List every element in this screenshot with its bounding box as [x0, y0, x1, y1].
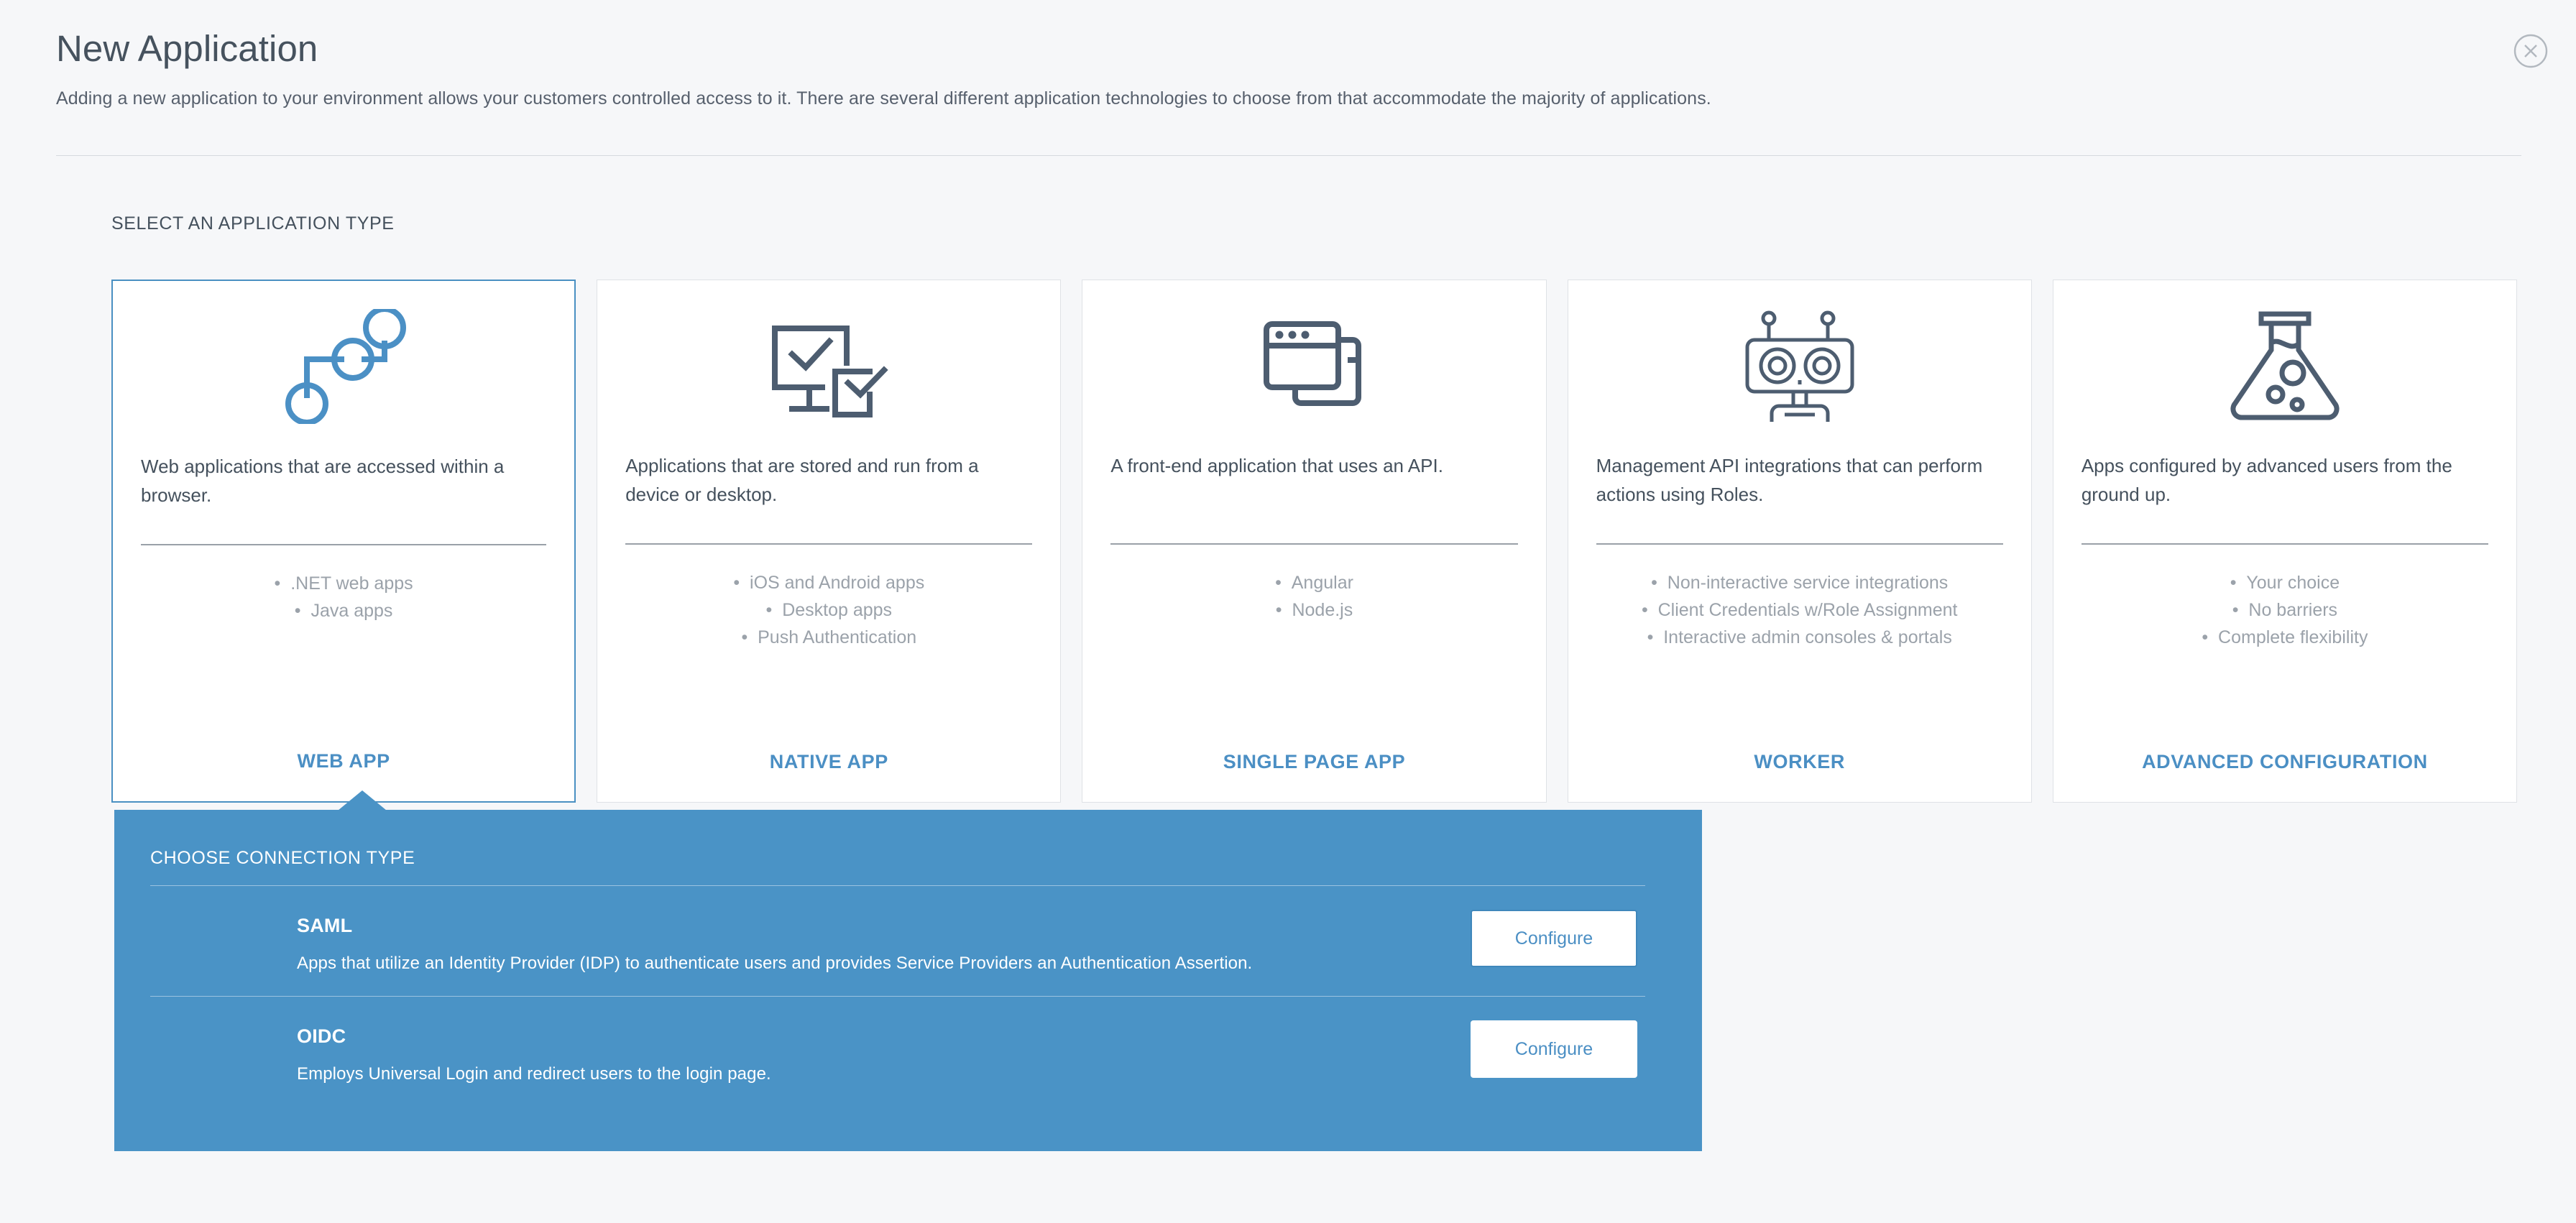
section-label: SELECT AN APPLICATION TYPE — [111, 213, 395, 234]
configure-button-saml[interactable]: Configure — [1471, 910, 1637, 967]
configure-button-oidc[interactable]: Configure — [1471, 1020, 1637, 1078]
app-type-description: Management API integrations that can per… — [1596, 451, 2003, 543]
list-item: Complete flexibility — [2202, 624, 2368, 651]
page-title: New Application — [56, 27, 2521, 70]
flask-icon — [2053, 280, 2516, 451]
list-item: iOS and Android apps — [733, 569, 924, 596]
network-nodes-icon — [113, 281, 574, 452]
app-type-cta-single-page-app[interactable]: SINGLE PAGE APP — [1082, 751, 1545, 802]
app-type-cta-native-app[interactable]: NATIVE APP — [597, 751, 1060, 802]
app-type-bullets: .NET web apps Java apps — [113, 545, 574, 750]
list-item: Push Authentication — [741, 624, 916, 651]
new-application-dialog: New Application Adding a new application… — [0, 0, 2576, 1223]
list-item: .NET web apps — [275, 570, 413, 597]
connection-description: Apps that utilize an Identity Provider (… — [297, 954, 1252, 974]
connection-panel-title: CHOOSE CONNECTION TYPE — [150, 848, 415, 869]
app-type-description: Apps configured by advanced users from t… — [2081, 451, 2488, 543]
close-circle-icon[interactable] — [2511, 32, 2550, 70]
dialog-header: New Application Adding a new application… — [56, 27, 2521, 111]
app-type-card-single-page-app[interactable]: A front-end application that uses an API… — [1082, 280, 1546, 803]
list-item: Desktop apps — [766, 596, 893, 624]
app-type-card-web-app[interactable]: Web applications that are accessed withi… — [111, 280, 576, 803]
connection-name: SAML — [297, 915, 352, 937]
app-type-description: Web applications that are accessed withi… — [141, 452, 546, 544]
app-type-bullets: Your choice No barriers Complete flexibi… — [2053, 545, 2516, 751]
application-type-list: Web applications that are accessed withi… — [111, 280, 2517, 803]
desktop-and-mobile-check-icon — [597, 280, 1060, 451]
list-item: Node.js — [1276, 596, 1353, 624]
page-subtitle: Adding a new application to your environ… — [56, 86, 2521, 111]
connection-row-oidc: OIDC Employs Universal Login and redirec… — [114, 997, 1702, 1107]
list-item: Angular — [1275, 569, 1353, 596]
app-type-bullets: Angular Node.js — [1082, 545, 1545, 751]
list-item: Your choice — [2230, 569, 2340, 596]
connection-description: Employs Universal Login and redirect use… — [297, 1064, 771, 1084]
app-type-card-worker[interactable]: Management API integrations that can per… — [1568, 280, 2032, 803]
list-item: Client Credentials w/Role Assignment — [1642, 596, 1958, 624]
app-type-bullets: Non-interactive service integrations Cli… — [1568, 545, 2031, 751]
app-type-description: A front-end application that uses an API… — [1110, 451, 1517, 543]
connection-type-panel: CHOOSE CONNECTION TYPE SAML Apps that ut… — [114, 810, 1702, 1151]
app-type-card-native-app[interactable]: Applications that are stored and run fro… — [597, 280, 1061, 803]
list-item: No barriers — [2232, 596, 2337, 624]
panel-pointer-arrow — [338, 790, 387, 811]
connection-row-saml: SAML Apps that utilize an Identity Provi… — [114, 886, 1702, 997]
app-type-cta-advanced-configuration[interactable]: ADVANCED CONFIGURATION — [2053, 751, 2516, 802]
app-type-bullets: iOS and Android apps Desktop apps Push A… — [597, 545, 1060, 751]
list-item: Java apps — [295, 597, 393, 624]
app-type-cta-worker[interactable]: WORKER — [1568, 751, 2031, 802]
header-divider — [56, 155, 2521, 156]
browser-windows-icon — [1082, 280, 1545, 451]
app-type-card-advanced-configuration[interactable]: Apps configured by advanced users from t… — [2053, 280, 2517, 803]
connection-name: OIDC — [297, 1025, 346, 1048]
list-item: Non-interactive service integrations — [1651, 569, 1948, 596]
list-item: Interactive admin consoles & portals — [1647, 624, 1952, 651]
robot-icon — [1568, 280, 2031, 451]
app-type-description: Applications that are stored and run fro… — [625, 451, 1032, 543]
